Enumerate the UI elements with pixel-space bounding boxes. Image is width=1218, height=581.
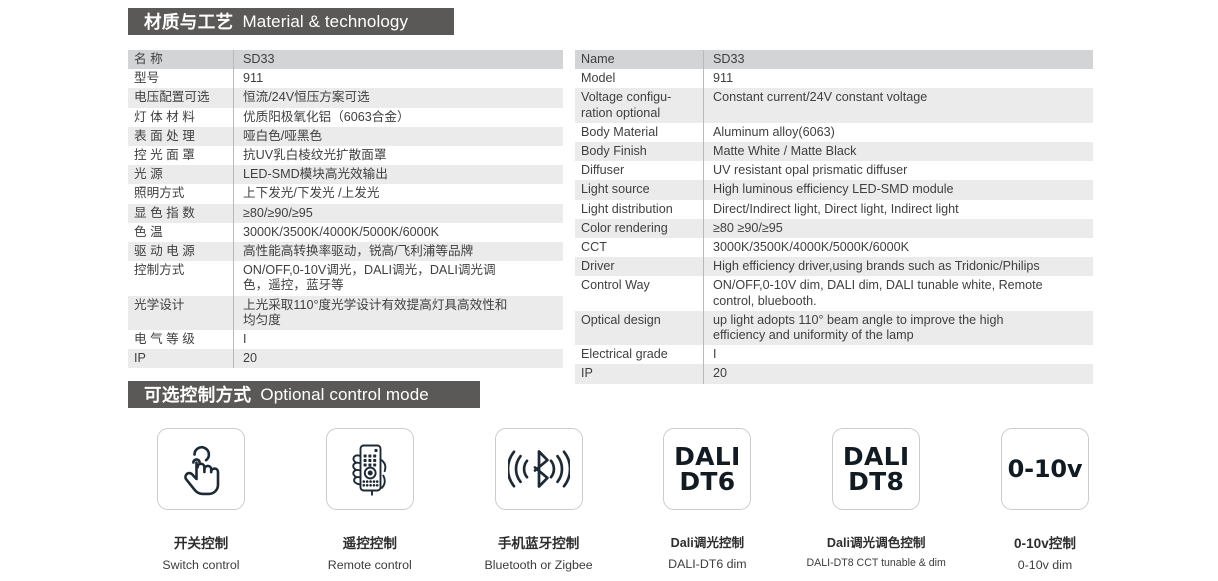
section-header-control-mode-en: Optional control mode <box>260 385 428 405</box>
spec-row: Light sourceHigh luminous efficiency LED… <box>575 180 1093 199</box>
spec-row: Optical designup light adopts 110° beam … <box>575 311 1093 345</box>
dali-dt6-icon[interactable]: DALIDT6 <box>663 428 751 510</box>
spec-table-english: NameSD33Model911Voltage configu-ration o… <box>575 50 1093 384</box>
control-mode-label-cn: 遥控控制 <box>343 532 397 552</box>
spec-row-value: ON/OFF,0-10V调光，DALI调光，DALI调光调色，遥控，蓝牙等 <box>234 261 564 295</box>
spec-table-english-body: NameSD33Model911Voltage configu-ration o… <box>575 50 1093 384</box>
spec-row-value: 上光采取110°度光学设计有效提高灯具高效性和均匀度 <box>234 296 564 330</box>
spec-row: Body MaterialAluminum alloy(6063) <box>575 123 1093 142</box>
control-mode-item[interactable]: 手机蓝牙控制Bluetooth or Zigbee <box>466 428 612 572</box>
section-header-material-en: Material & technology <box>243 12 409 32</box>
hand-remote-icon[interactable] <box>326 428 414 510</box>
spec-row-value: Constant current/24V constant voltage <box>704 88 1094 122</box>
spec-row-label: Body Material <box>575 123 704 142</box>
spec-row: Color rendering≥80 ≥90/≥95 <box>575 219 1093 238</box>
control-mode-label-cn: 0-10v控制 <box>1014 532 1076 552</box>
control-mode-icon-text: 0-10v <box>1008 456 1083 482</box>
spec-row-label: 光 源 <box>128 165 234 184</box>
spec-row: 名 称SD33 <box>128 50 563 69</box>
control-mode-list: 开关控制Switch control <box>128 428 1118 572</box>
spec-row: DriverHigh efficiency driver,using brand… <box>575 257 1093 276</box>
spec-row-value: 3000K/3500K/4000K/5000K/6000K <box>704 238 1094 257</box>
control-mode-label-en: Bluetooth or Zigbee <box>485 558 593 572</box>
control-mode-label-cn: 开关控制 <box>174 532 228 552</box>
spec-row: 照明方式上下发光/下发光 /上发光 <box>128 184 563 203</box>
spec-row: IP20 <box>128 349 563 368</box>
spec-row: CCT3000K/3500K/4000K/5000K/6000K <box>575 238 1093 257</box>
dali-dt8-icon[interactable]: DALIDT8 <box>832 428 920 510</box>
spec-row-value: High luminous efficiency LED-SMD module <box>704 180 1094 199</box>
spec-row-label: Electrical grade <box>575 345 704 364</box>
spec-row-label: 灯 体 材 料 <box>128 108 234 127</box>
spec-row: Light distributionDirect/Indirect light,… <box>575 200 1093 219</box>
control-mode-label-en: DALI-DT6 dim <box>668 557 747 571</box>
section-header-control-mode-cn: 可选控制方式 <box>144 382 251 407</box>
spec-row-label: 控制方式 <box>128 261 234 295</box>
spec-row: 光 源LED-SMD模块高光效输出 <box>128 165 563 184</box>
spec-row-label: IP <box>128 349 234 368</box>
spec-table-chinese-body: 名 称SD33型号911电压配置可选恒流/24V恒压方案可选灯 体 材 料优质阳… <box>128 50 563 368</box>
spec-row-label: 型号 <box>128 69 234 88</box>
spec-row-value: UV resistant opal prismatic diffuser <box>704 161 1094 180</box>
spec-row: Control WayON/OFF,0-10V dim, DALI dim, D… <box>575 276 1093 310</box>
spec-row-label: 驱 动 电 源 <box>128 242 234 261</box>
spec-row: 控制方式ON/OFF,0-10V调光，DALI调光，DALI调光调色，遥控，蓝牙… <box>128 261 563 295</box>
spec-row-value: 抗UV乳白棱纹光扩散面罩 <box>234 146 564 165</box>
spec-row: 灯 体 材 料优质阳极氧化铝（6063合金） <box>128 108 563 127</box>
spec-row: 驱 动 电 源高性能高转换率驱动，锐高/飞利浦等品牌 <box>128 242 563 261</box>
control-mode-item[interactable]: DALIDT6Dali调光控制DALI-DT6 dim <box>634 428 780 571</box>
control-mode-label-cn: Dali调光调色控制 <box>827 532 926 551</box>
spec-row-value: 3000K/3500K/4000K/5000K/6000K <box>234 223 564 242</box>
spec-row-value: 哑白色/哑黑色 <box>234 127 564 146</box>
spec-row: NameSD33 <box>575 50 1093 69</box>
spec-row-value: 20 <box>704 364 1094 383</box>
spec-row-label: 色 温 <box>128 223 234 242</box>
spec-row-label: Diffuser <box>575 161 704 180</box>
spec-row-label: 显 色 指 数 <box>128 204 234 223</box>
spec-row-label: IP <box>575 364 704 383</box>
spec-row: 表 面 处 理哑白色/哑黑色 <box>128 127 563 146</box>
spec-row: 光学设计上光采取110°度光学设计有效提高灯具高效性和均匀度 <box>128 296 563 330</box>
spec-row-value: Direct/Indirect light, Direct light, Ind… <box>704 200 1094 219</box>
spec-row: 电 气 等 级I <box>128 330 563 349</box>
control-mode-icon-text: DALIDT6 <box>674 444 741 494</box>
control-mode-label-en: 0-10v dim <box>1018 558 1072 572</box>
spec-row-label: Voltage configu-ration optional <box>575 88 704 122</box>
spec-row-value: SD33 <box>704 50 1094 69</box>
spec-row-label: Light distribution <box>575 200 704 219</box>
control-mode-item[interactable]: DALIDT8Dali调光调色控制DALI-DT8 CCT tunable & … <box>803 428 949 569</box>
spec-row-value: 上下发光/下发光 /上发光 <box>234 184 564 203</box>
spec-row: DiffuserUV resistant opal prismatic diff… <box>575 161 1093 180</box>
hand-tap-icon[interactable] <box>157 428 245 510</box>
bluetooth-signal-icon[interactable] <box>495 428 583 510</box>
spec-row-label: Body Finish <box>575 142 704 161</box>
spec-row-value: ≥80/≥90/≥95 <box>234 204 564 223</box>
spec-row-label: Model <box>575 69 704 88</box>
control-mode-label-en: DALI-DT8 CCT tunable & dim <box>807 557 946 569</box>
spec-row-label: 电 气 等 级 <box>128 330 234 349</box>
section-header-material-cn: 材质与工艺 <box>144 9 234 34</box>
spec-row-label: Light source <box>575 180 704 199</box>
control-mode-label-en: Switch control <box>162 558 239 572</box>
spec-row-label: Name <box>575 50 704 69</box>
spec-row-value: Aluminum alloy(6063) <box>704 123 1094 142</box>
spec-row-label: Color rendering <box>575 219 704 238</box>
spec-row-value: High efficiency driver,using brands such… <box>704 257 1094 276</box>
spec-row-value: 恒流/24V恒压方案可选 <box>234 88 564 107</box>
control-mode-icon-text: DALIDT8 <box>843 444 910 494</box>
zero-to-ten-volt-icon[interactable]: 0-10v <box>1001 428 1089 510</box>
spec-row-value: ON/OFF,0-10V dim, DALI dim, DALI tunable… <box>704 276 1094 310</box>
spec-row: 控 光 面 罩抗UV乳白棱纹光扩散面罩 <box>128 146 563 165</box>
spec-row-label: Driver <box>575 257 704 276</box>
control-mode-item[interactable]: 开关控制Switch control <box>128 428 274 572</box>
spec-row: Voltage configu-ration optionalConstant … <box>575 88 1093 122</box>
spec-row-label: Optical design <box>575 311 704 345</box>
spec-row-label: CCT <box>575 238 704 257</box>
spec-row-label: 电压配置可选 <box>128 88 234 107</box>
spec-table-chinese: 名 称SD33型号911电压配置可选恒流/24V恒压方案可选灯 体 材 料优质阳… <box>128 50 563 368</box>
spec-row-value: 911 <box>234 69 564 88</box>
spec-row: 型号911 <box>128 69 563 88</box>
spec-row-label: 照明方式 <box>128 184 234 203</box>
spec-row-value: I <box>234 330 564 349</box>
spec-row-label: Control Way <box>575 276 704 310</box>
control-mode-item[interactable]: 遥控控制Remote control <box>297 428 443 572</box>
control-mode-label-cn: Dali调光控制 <box>671 532 744 551</box>
section-header-control-mode: 可选控制方式 Optional control mode <box>128 381 480 408</box>
spec-row-value: LED-SMD模块高光效输出 <box>234 165 564 184</box>
control-mode-label-en: Remote control <box>328 558 412 572</box>
control-mode-label-cn: 手机蓝牙控制 <box>498 532 580 552</box>
spec-row: 显 色 指 数≥80/≥90/≥95 <box>128 204 563 223</box>
spec-row-value: up light adopts 110° beam angle to impro… <box>704 311 1094 345</box>
control-mode-item[interactable]: 0-10v0-10v控制0-10v dim <box>972 428 1118 572</box>
spec-row: 电压配置可选恒流/24V恒压方案可选 <box>128 88 563 107</box>
spec-row-label: 控 光 面 罩 <box>128 146 234 165</box>
spec-row-value: SD33 <box>234 50 564 69</box>
spec-row: Model911 <box>575 69 1093 88</box>
spec-row-value: ≥80 ≥90/≥95 <box>704 219 1094 238</box>
spec-row-value: 911 <box>704 69 1094 88</box>
section-header-material: 材质与工艺 Material & technology <box>128 8 454 35</box>
spec-row: Body FinishMatte White / Matte Black <box>575 142 1093 161</box>
spec-row-value: Matte White / Matte Black <box>704 142 1094 161</box>
spec-row-value: 高性能高转换率驱动，锐高/飞利浦等品牌 <box>234 242 564 261</box>
spec-row-value: 20 <box>234 349 564 368</box>
spec-row-value: I <box>704 345 1094 364</box>
spec-row-value: 优质阳极氧化铝（6063合金） <box>234 108 564 127</box>
spec-row: 色 温3000K/3500K/4000K/5000K/6000K <box>128 223 563 242</box>
spec-row-label: 名 称 <box>128 50 234 69</box>
spec-row-label: 表 面 处 理 <box>128 127 234 146</box>
spec-row: Electrical gradeI <box>575 345 1093 364</box>
spec-row: IP20 <box>575 364 1093 383</box>
spec-row-label: 光学设计 <box>128 296 234 330</box>
